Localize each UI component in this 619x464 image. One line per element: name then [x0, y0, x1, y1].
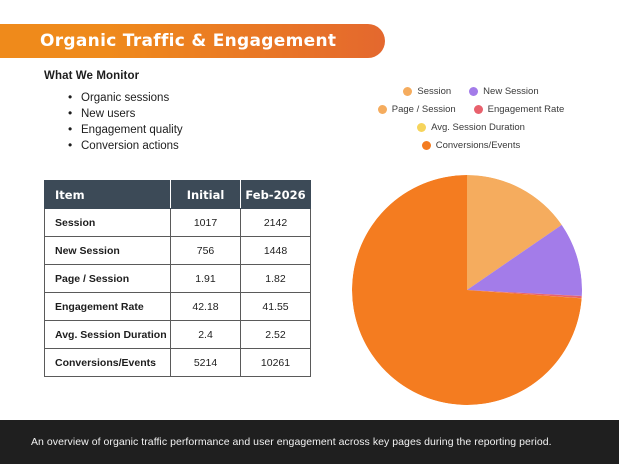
table-header-row: Item Initial Feb-2026: [45, 181, 311, 209]
legend-label: Conversions/Events: [436, 140, 520, 151]
cell-item: Engagement Rate: [45, 293, 171, 321]
table-row: Engagement Rate 42.18 41.55: [45, 293, 311, 321]
table-row: Page / Session 1.91 1.82: [45, 265, 311, 293]
cell-initial: 42.18: [171, 293, 241, 321]
cell-initial: 5214: [171, 349, 241, 377]
legend-swatch-icon: [469, 87, 478, 96]
monitor-heading: What We Monitor: [44, 70, 324, 82]
legend-item-engagement-rate[interactable]: Engagement Rate: [474, 104, 565, 115]
column-header-item: Item: [45, 181, 171, 209]
cell-current: 41.55: [241, 293, 311, 321]
legend-item-new-session[interactable]: New Session: [469, 86, 538, 97]
legend-swatch-icon: [422, 141, 431, 150]
list-item: Conversion actions: [68, 138, 324, 154]
legend-swatch-icon: [417, 123, 426, 132]
column-header-initial: Initial: [171, 181, 241, 209]
chart-legend: Session New Session Page / Session Engag…: [340, 86, 602, 158]
legend-label: Page / Session: [392, 104, 456, 115]
legend-swatch-icon: [474, 105, 483, 114]
table-row: Session 1017 2142: [45, 209, 311, 237]
legend-label: Avg. Session Duration: [431, 122, 525, 133]
pie-slices: [352, 175, 582, 405]
monitor-list: Organic sessions New users Engagement qu…: [44, 90, 324, 154]
cell-item: Avg. Session Duration: [45, 321, 171, 349]
cell-current: 10261: [241, 349, 311, 377]
table-row: Conversions/Events 5214 10261: [45, 349, 311, 377]
pie-chart-svg[interactable]: [352, 175, 582, 405]
legend-row: Conversions/Events: [340, 140, 602, 151]
cell-current: 2142: [241, 209, 311, 237]
cell-current: 1.82: [241, 265, 311, 293]
cell-item: Page / Session: [45, 265, 171, 293]
legend-item-avg-session-duration[interactable]: Avg. Session Duration: [417, 122, 525, 133]
cell-current: 1448: [241, 237, 311, 265]
legend-swatch-icon: [403, 87, 412, 96]
table-row: New Session 756 1448: [45, 237, 311, 265]
cell-initial: 2.4: [171, 321, 241, 349]
cell-item: Conversions/Events: [45, 349, 171, 377]
metrics-table: Item Initial Feb-2026 Session 1017 2142 …: [44, 180, 311, 377]
list-item: New users: [68, 106, 324, 122]
legend-row: Session New Session: [340, 86, 602, 97]
pie-chart: [352, 175, 582, 405]
monitor-section: What We Monitor Organic sessions New use…: [44, 70, 324, 154]
cell-current: 2.52: [241, 321, 311, 349]
legend-item-conversions-events[interactable]: Conversions/Events: [422, 140, 520, 151]
cell-initial: 756: [171, 237, 241, 265]
footer-bar: An overview of organic traffic performan…: [0, 420, 619, 464]
cell-item: New Session: [45, 237, 171, 265]
legend-item-session[interactable]: Session: [403, 86, 451, 97]
cell-item: Session: [45, 209, 171, 237]
title-banner: Organic Traffic & Engagement: [0, 24, 385, 58]
legend-swatch-icon: [378, 105, 387, 114]
legend-label: Engagement Rate: [488, 104, 565, 115]
table-row: Avg. Session Duration 2.4 2.52: [45, 321, 311, 349]
cell-initial: 1.91: [171, 265, 241, 293]
footer-caption: An overview of organic traffic performan…: [0, 436, 572, 448]
page-title: Organic Traffic & Engagement: [0, 31, 336, 51]
legend-label: Session: [417, 86, 451, 97]
legend-row: Page / Session Engagement Rate: [340, 104, 602, 115]
legend-label: New Session: [483, 86, 538, 97]
list-item: Engagement quality: [68, 122, 324, 138]
legend-item-page-session[interactable]: Page / Session: [378, 104, 456, 115]
legend-row: Avg. Session Duration: [340, 122, 602, 133]
cell-initial: 1017: [171, 209, 241, 237]
table-header: Item Initial Feb-2026: [45, 181, 311, 209]
list-item: Organic sessions: [68, 90, 324, 106]
column-header-current: Feb-2026: [241, 181, 311, 209]
table-body: Session 1017 2142 New Session 756 1448 P…: [45, 209, 311, 377]
